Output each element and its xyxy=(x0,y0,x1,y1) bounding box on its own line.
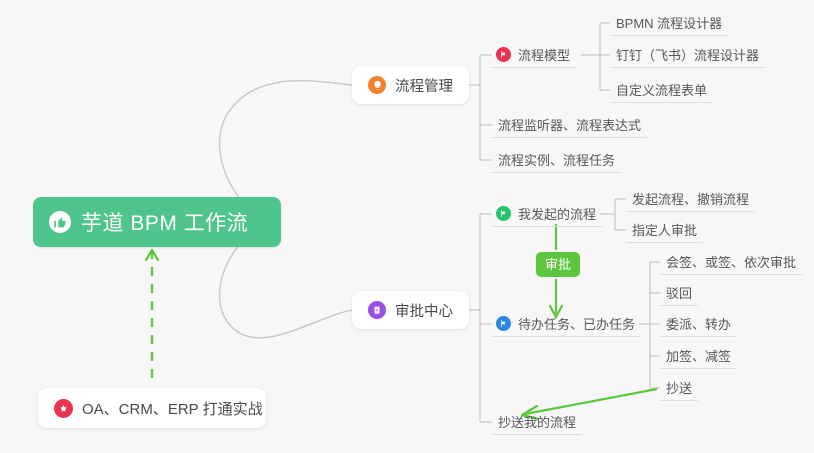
leaf-my-initiated-processes[interactable]: 我发起的流程 xyxy=(492,201,602,227)
bottom-card-label: OA、CRM、ERP 打通实战 xyxy=(82,398,263,419)
leaf-label: 加签、减签 xyxy=(666,346,731,365)
leaf-process-instance-task[interactable]: 流程实例、流程任务 xyxy=(492,147,621,173)
bottom-card-integration[interactable]: OA、CRM、ERP 打通实战 xyxy=(38,388,266,428)
leaf-reject[interactable]: 驳回 xyxy=(660,280,698,306)
leaf-process-listener-expression[interactable]: 流程监听器、流程表达式 xyxy=(492,112,647,138)
leaf-process-model[interactable]: 流程模型 xyxy=(492,42,576,68)
leaf-label: 驳回 xyxy=(666,283,692,302)
leaf-carbon-copy[interactable]: 抄送 xyxy=(660,375,698,401)
leaf-label: 指定人审批 xyxy=(632,220,697,239)
leaf-label: 抄送我的流程 xyxy=(498,412,576,431)
flag-icon xyxy=(496,47,511,62)
leaf-label: 发起流程、撤销流程 xyxy=(632,189,749,208)
leaf-add-remove-sign[interactable]: 加签、减签 xyxy=(660,343,737,369)
leaf-label: 待办任务、已办任务 xyxy=(518,314,635,333)
leaf-todo-done-tasks[interactable]: 待办任务、已办任务 xyxy=(492,311,641,337)
leaf-cc-to-me-processes[interactable]: 抄送我的流程 xyxy=(492,409,582,435)
leaf-label: BPMN 流程设计器 xyxy=(616,13,722,32)
mindmap-canvas: 芋道 BPM 工作流 流程管理 流程模型 BPMN 流程设计器 钉钉（飞书）流程… xyxy=(0,0,814,453)
leaf-delegate-transfer[interactable]: 委派、转办 xyxy=(660,311,737,337)
leaf-label: 抄送 xyxy=(666,378,692,397)
root-node[interactable]: 芋道 BPM 工作流 xyxy=(33,197,281,247)
branch-node-approval-center[interactable]: 审批中心 xyxy=(352,291,469,329)
leaf-bpmn-designer[interactable]: BPMN 流程设计器 xyxy=(610,10,728,36)
root-label: 芋道 BPM 工作流 xyxy=(81,207,248,237)
leaf-countersign-orsign-sequential[interactable]: 会签、或签、依次审批 xyxy=(660,249,802,275)
leaf-label: 自定义流程表单 xyxy=(616,80,707,99)
flag-icon xyxy=(496,206,511,221)
leaf-label: 流程模型 xyxy=(518,45,570,64)
thumbs-up-icon xyxy=(49,211,71,233)
flag-icon xyxy=(496,316,511,331)
dashed-arrow-annotation xyxy=(146,250,158,378)
branch-label: 审批中心 xyxy=(395,300,453,321)
leaf-label: 流程监听器、流程表达式 xyxy=(498,115,641,134)
leaf-custom-process-form[interactable]: 自定义流程表单 xyxy=(610,77,713,103)
leaf-start-cancel-process[interactable]: 发起流程、撤销流程 xyxy=(626,186,755,212)
leaf-label: 会签、或签、依次审批 xyxy=(666,252,796,271)
clipboard-icon xyxy=(368,301,386,319)
leaf-dingtalk-feishu-designer[interactable]: 钉钉（飞书）流程设计器 xyxy=(610,42,765,68)
approval-badge: 审批 xyxy=(536,252,580,277)
leaf-label: 我发起的流程 xyxy=(518,204,596,223)
branch-node-process-management[interactable]: 流程管理 xyxy=(352,66,469,104)
leaf-designated-approver[interactable]: 指定人审批 xyxy=(626,217,703,243)
leaf-label: 流程实例、流程任务 xyxy=(498,150,615,169)
leaf-label: 委派、转办 xyxy=(666,314,731,333)
lightbulb-icon xyxy=(368,76,386,94)
star-icon xyxy=(54,399,73,418)
branch-label: 流程管理 xyxy=(395,75,453,96)
leaf-label: 钉钉（飞书）流程设计器 xyxy=(616,45,759,64)
